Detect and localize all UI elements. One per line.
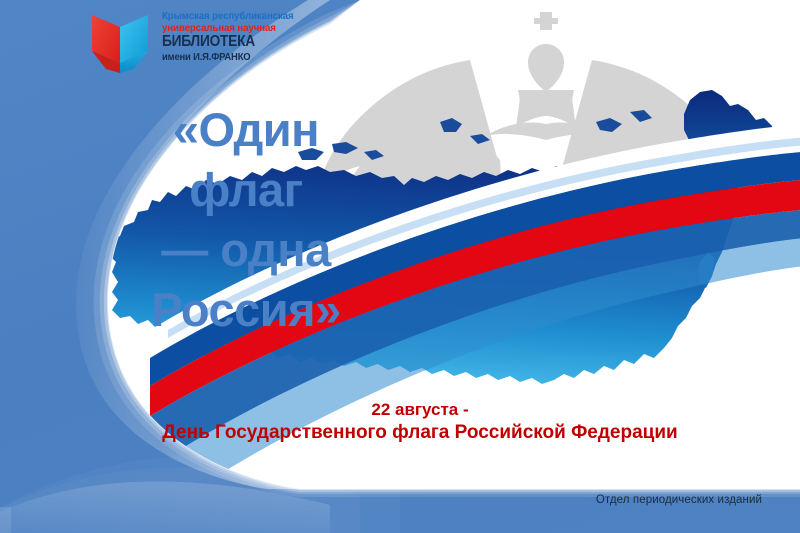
subtitle-description: День Государственного флага Российской Ф… [60, 421, 780, 444]
logo-line-2: универсальная научная [162, 23, 294, 34]
event-subtitle: 22 августа - День Государственного флага… [60, 400, 780, 444]
open-book-emblem [86, 7, 154, 77]
title-line-3: — одна [96, 220, 396, 280]
title-line-1: «Один [96, 100, 396, 160]
department-note: Отдел периодических изданий [596, 494, 762, 506]
library-logo: Крымская республиканская универсальная н… [86, 7, 305, 77]
logo-line-3: БИБЛИОТЕКА [162, 34, 285, 50]
logo-line-1: Крымская республиканская [162, 11, 294, 22]
slide-canvas: Крымская республиканская универсальная н… [0, 0, 800, 533]
corner-artifact [0, 507, 11, 533]
subtitle-date: 22 августа - [60, 400, 780, 421]
title-line-2: флаг [96, 160, 396, 220]
title-line-4: Россия» [96, 280, 396, 340]
page-title: «Один флаг — одна Россия» [96, 100, 396, 341]
logo-line-4: имени И.Я.ФРАНКО [162, 52, 291, 63]
